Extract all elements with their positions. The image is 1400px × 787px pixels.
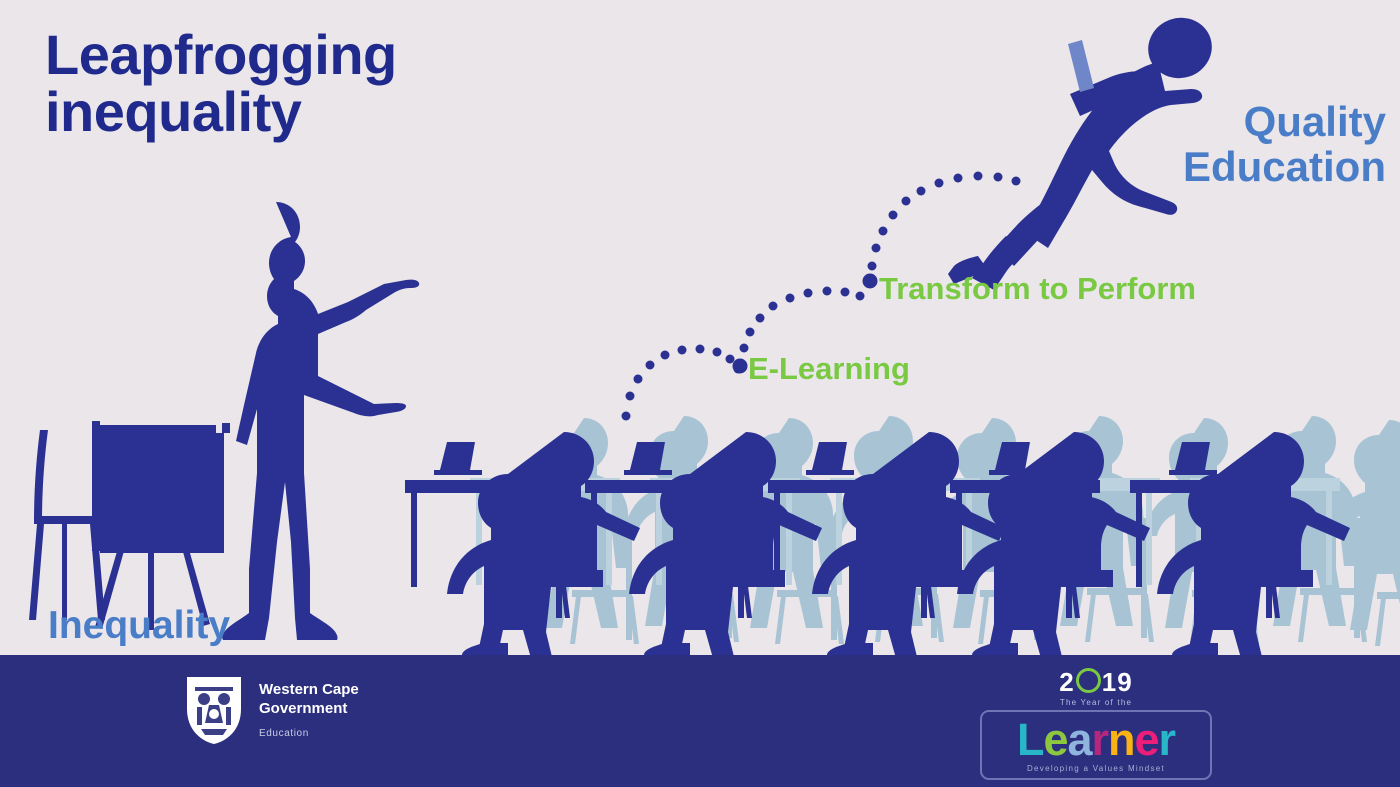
learner-year: 219	[980, 667, 1212, 697]
year-prefix: 2	[1059, 667, 1074, 697]
label-quality-education: Quality Education	[1183, 100, 1386, 189]
learner-wordmark-box: Learner Developing a Values Mindset	[980, 710, 1212, 780]
learner-letter: e	[1135, 714, 1159, 765]
footer-bar: Western Cape Government Education 219 Th…	[0, 655, 1400, 787]
learner-letter: n	[1108, 714, 1135, 765]
year-ring-icon	[1076, 668, 1101, 693]
learner-letter: r	[1159, 714, 1176, 765]
page-title: Leapfrogging inequality	[45, 26, 397, 140]
western-cape-government-logo: Western Cape Government Education	[183, 673, 359, 747]
wcg-text-block: Western Cape Government Education	[259, 681, 359, 739]
learner-tagline-bottom: Developing a Values Mindset	[990, 764, 1202, 773]
wcg-name: Western Cape Government	[259, 681, 359, 719]
learner-letter: e	[1043, 714, 1067, 765]
label-inequality: Inequality	[48, 604, 230, 648]
leap-arc-1	[622, 345, 748, 421]
learner-wordmark: Learner	[990, 718, 1202, 762]
wcg-department: Education	[259, 728, 359, 739]
coat-of-arms-crest-icon	[183, 673, 245, 747]
label-e-learning: E-Learning	[748, 351, 910, 387]
illustration-stage: Leapfrogging inequality Quality Educatio…	[0, 0, 1400, 655]
learner-letter: L	[1017, 714, 1044, 765]
leaping-learner-silhouette	[948, 10, 1220, 290]
teacher-silhouette	[222, 202, 419, 640]
leap-arc-1-descend	[740, 274, 878, 353]
learner-letter: r	[1092, 714, 1109, 765]
year-of-the-learner-logo: 219 The Year of the Learner Developing a…	[980, 667, 1212, 780]
learner-letter: a	[1067, 714, 1091, 765]
flipchart-easel	[92, 421, 230, 630]
poster: Leapfrogging inequality Quality Educatio…	[0, 0, 1400, 787]
label-transform-to-perform: Transform to Perform	[879, 271, 1196, 307]
year-suffix: 19	[1102, 667, 1133, 697]
learner-tagline-top: The Year of the	[980, 698, 1212, 707]
